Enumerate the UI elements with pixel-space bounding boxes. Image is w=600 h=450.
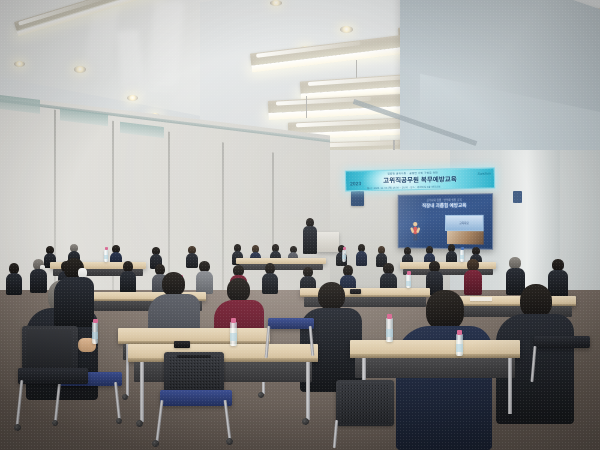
bottle-label <box>386 329 393 337</box>
attendee-head <box>318 282 345 310</box>
attendee-head <box>426 290 464 330</box>
attendee <box>262 263 278 294</box>
banner-logo: Sunchon <box>477 172 490 176</box>
table-leg <box>140 362 144 422</box>
attendee <box>120 261 136 293</box>
seminar-room-photo: 청렴한 공직사회 · 공정한 사회 구현을 위한 2023 고위직공무원 복무예… <box>0 0 600 450</box>
water-bottle <box>386 318 393 342</box>
recessed-downlight <box>270 0 282 6</box>
table-caster <box>258 392 264 398</box>
training-table <box>350 340 520 358</box>
slide-image-box: 교육자료 <box>445 215 484 231</box>
attendee-body <box>6 273 22 295</box>
stacking-chair-back[interactable] <box>336 380 394 426</box>
chair-caster <box>226 438 233 445</box>
attendee-body <box>262 273 278 294</box>
attendee <box>6 263 22 295</box>
bottle-label <box>456 344 463 352</box>
stacking-chair-back[interactable] <box>164 352 224 392</box>
bottle-cap <box>407 271 411 275</box>
table-leg <box>306 362 310 420</box>
overhead-event-banner: 청렴한 공직사회 · 공정한 사회 구현을 위한 2023 고위직공무원 복무예… <box>345 167 495 191</box>
bottle-label <box>230 333 237 341</box>
bottle-cap <box>93 319 98 323</box>
stacking-chair-seat[interactable] <box>534 336 590 348</box>
stacking-chair-seat[interactable] <box>160 390 232 406</box>
bottle-label <box>406 281 411 286</box>
table-caster <box>122 394 128 400</box>
training-table <box>118 328 270 344</box>
bottle-cap <box>343 247 346 250</box>
bottle-label <box>92 332 98 339</box>
banner-main-text: 고위직공무원 복무예방교육 <box>383 174 457 185</box>
chair-caster <box>52 420 58 426</box>
table-caster <box>302 418 309 425</box>
wall-speaker-plate <box>351 191 364 206</box>
chair-perforation <box>341 384 389 422</box>
chair-caster <box>116 418 122 424</box>
chair-caster <box>152 440 159 447</box>
stacking-chair-seat[interactable] <box>18 368 88 384</box>
bottle-cap <box>457 330 462 335</box>
recessed-downlight <box>14 61 25 67</box>
smartphone-on-table <box>174 341 190 348</box>
chair-caster <box>14 424 21 431</box>
bottle-cap <box>461 247 464 250</box>
stacking-chair-seat[interactable] <box>268 318 314 329</box>
window-glass-strip <box>120 122 164 138</box>
fixture-hanger <box>306 96 307 118</box>
water-bottle <box>230 322 237 346</box>
water-bottle <box>92 322 98 344</box>
wall-speaker-plate <box>513 191 522 203</box>
attendee-head <box>227 278 250 302</box>
banner-year: 2023 <box>350 181 361 187</box>
table-leg <box>508 358 512 414</box>
chair-perforation <box>27 330 73 366</box>
recessed-downlight <box>74 66 86 73</box>
chair-perforation <box>169 356 219 388</box>
bottle-cap <box>387 314 392 319</box>
water-bottle <box>406 274 411 288</box>
attendee-body <box>120 271 136 293</box>
recessed-downlight <box>340 26 353 33</box>
recessed-downlight <box>127 95 138 101</box>
banner-sub-text: 일시 : 2023. 11. 00.(목) 14:00 ~ 16:00 · 장소… <box>367 185 441 191</box>
attendee-head <box>162 272 185 296</box>
table-caster <box>136 420 143 427</box>
attendee-head <box>520 284 552 318</box>
bottle-cap <box>231 318 236 323</box>
water-bottle <box>456 334 463 356</box>
attendee <box>54 258 94 328</box>
attendee-body <box>54 277 94 327</box>
bottle-cap <box>105 247 108 250</box>
stacking-chair-back[interactable] <box>22 326 78 370</box>
slide-box-label: 교육자료 <box>446 216 483 230</box>
